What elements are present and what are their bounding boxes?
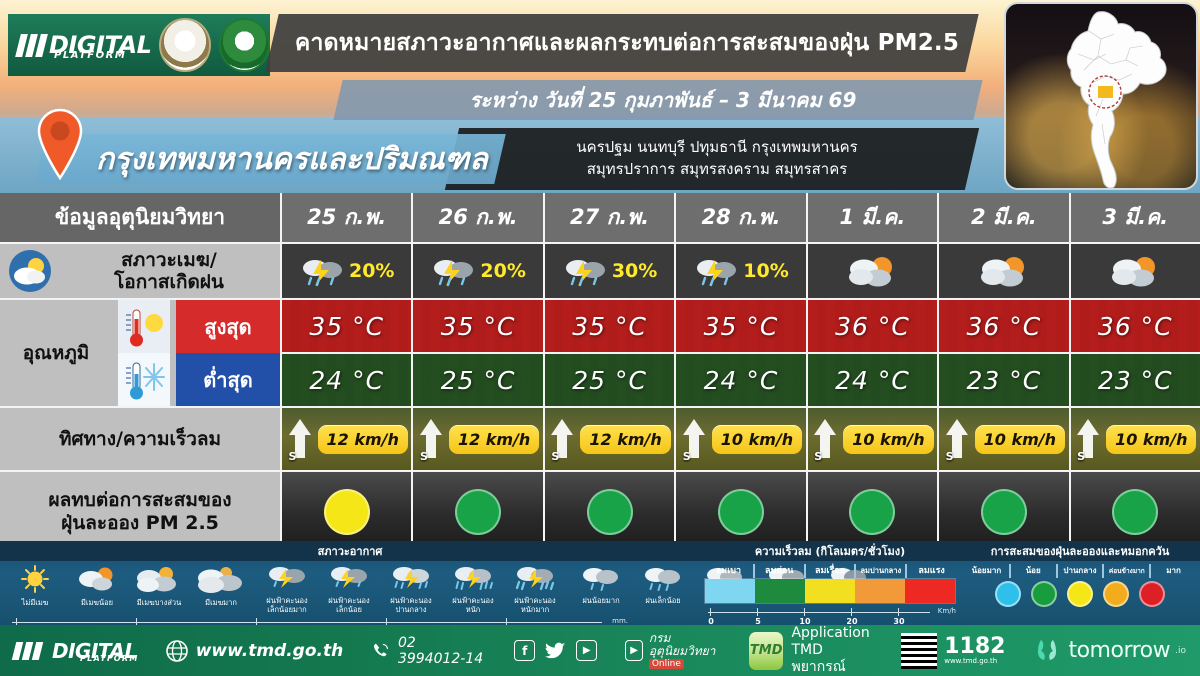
- wind-cat-1: ลมอ่อน: [755, 564, 806, 578]
- temp-low-cell-4: 24 °C: [808, 354, 937, 406]
- partly-cloudy-icon: [134, 564, 184, 594]
- legend-item-rain-light: ฝนน้อยมาก: [570, 564, 632, 606]
- temp-high-cell-5: 36 °C: [939, 300, 1068, 352]
- legend-rain-group: ฝนฟ้าคะนองเล็กน้อยมาก ฝนฟ้าคะนองเล็กน้อย: [256, 564, 566, 614]
- pm25-cell-3: [676, 472, 805, 551]
- legend-pm25-body: น้อยมาก น้อย ปานกลาง ค่อนข้างมาก มาก: [960, 561, 1200, 607]
- wind-direction-arrow-icon: S: [811, 416, 839, 462]
- legend-weather: สภาวะอากาศ ไม่มีเมฆ: [0, 541, 700, 625]
- row-label-wind-text: ทิศทาง/ความเร็วลม: [0, 428, 280, 450]
- storm-vheavy-icon: [512, 564, 558, 592]
- pm25-cell-5: [939, 472, 1068, 551]
- header: DIGITAL PLATFORM คาดหมายสภาวะอากาศและผลก…: [0, 0, 1200, 193]
- legend-item-storm-vheavy: ฝนฟ้าคะนองหนักมาก: [504, 564, 566, 614]
- pm25-status-dot: [587, 489, 633, 535]
- wind-speed-0: 12 km/h: [318, 425, 408, 454]
- legend-label-storm-heavy: ฝนฟ้าคะนองหนัก: [442, 597, 504, 614]
- footer-bar: DIGITAL PLATFORM www.tmd.go.th 02 399401…: [0, 625, 1200, 676]
- province-line-2: สมุทรปราการ สมุทรสงคราม สมุทรสาคร: [587, 159, 848, 181]
- footer-social[interactable]: f ▶: [500, 625, 611, 676]
- wind-color-bar: [704, 578, 956, 604]
- row-label-temperature-text: อุณหภูมิ: [0, 342, 112, 364]
- cloudy-icon: [195, 564, 247, 594]
- temp-low-cell-3: 24 °C: [676, 354, 805, 406]
- legend-weather-items: ไม่มีเมฆ มีเมฆน้อย: [4, 564, 696, 614]
- footer-app[interactable]: TMD Application TMD พยากรณ์: [735, 625, 887, 676]
- logo-bars-icon: [14, 642, 41, 660]
- wind-cell-5: S 10 km/h: [939, 408, 1068, 470]
- wind-cat-4: ลมแรง: [907, 564, 956, 578]
- globe-icon: [165, 639, 189, 663]
- legend-item-mostly-sunny: มีเมฆน้อย: [66, 564, 128, 608]
- pm25-legend-dot-3: [1103, 581, 1129, 607]
- legend-item-cloudy: มีเมฆมาก: [190, 564, 252, 608]
- storm-some-icon: [326, 564, 372, 592]
- legend-label-storm-vheavy: ฝนฟ้าคะนองหนักมาก: [504, 597, 566, 614]
- row-label-sky: สภาวะเมฆ/ โอกาสเกิดฝน: [0, 244, 280, 298]
- date-header-2: 27 ก.พ.: [545, 193, 674, 242]
- pm25-cat-3: ค่อนข้างมาก: [1104, 564, 1151, 578]
- phone-icon: [371, 639, 391, 663]
- date-header-6: 3 มี.ค.: [1071, 193, 1200, 242]
- legend-wind-title: ความเร็วลม (กิโลเมตร/ชั่วโมง): [700, 541, 960, 561]
- temp-high-cell-6: 36 °C: [1071, 300, 1200, 352]
- row-label-sky-text: สภาวะเมฆ/ โอกาสเกิดฝน: [58, 249, 280, 294]
- partner-name: tomorrow: [1068, 638, 1170, 663]
- sky-cell-0: 20%: [282, 244, 411, 298]
- storm-light-icon: [264, 564, 310, 592]
- legend-rain-icons: ฝนฟ้าคะนองเล็กน้อยมาก ฝนฟ้าคะนองเล็กน้อย: [256, 564, 566, 614]
- temp-low-label: ต่ำสุด: [176, 353, 280, 406]
- date-header-1: 26 ก.พ.: [413, 193, 542, 242]
- pm25-cat-1: น้อย: [1011, 564, 1058, 578]
- sky-cell-4: [808, 244, 937, 298]
- pm25-status-dot: [981, 489, 1027, 535]
- pm25-categories: น้อยมาก น้อย ปานกลาง ค่อนข้างมาก มาก: [964, 564, 1196, 578]
- date-range: ระหว่าง วันที่ 25 กุมภาพันธ์ – 3 มีนาคม …: [348, 80, 978, 120]
- wind-cell-1: S 12 km/h: [413, 408, 542, 470]
- wind-categories: ลมเบา ลมอ่อน ลมเรื่อย ลมปานกลาง ลมแรง: [704, 564, 956, 578]
- temp-high-cell-0: 35 °C: [282, 300, 411, 352]
- wind-cat-2: ลมเรื่อย: [806, 564, 857, 578]
- rain-chance-1: 20%: [480, 260, 525, 282]
- ministry-seal-icon: [219, 18, 270, 72]
- pm25-status-dot: [324, 489, 370, 535]
- location-pin-icon: [34, 108, 86, 180]
- pm25-cat-2: ปานกลาง: [1058, 564, 1105, 578]
- wind-speed-1: 12 km/h: [449, 425, 539, 454]
- legend-wind: ความเร็วลม (กิโลเมตร/ชั่วโมง) ลมเบา ลมอ่…: [700, 541, 960, 625]
- date-header-5: 2 มี.ค.: [939, 193, 1068, 242]
- sky-cell-6: [1071, 244, 1200, 298]
- wind-speed-6: 10 km/h: [1106, 425, 1196, 454]
- sky-cell-5: [939, 244, 1068, 298]
- row-label-temperature: อุณหภูมิ: [0, 300, 280, 406]
- pm25-cell-1: [413, 472, 542, 551]
- pm25-cat-0: น้อยมาก: [964, 564, 1011, 578]
- wind-direction-arrow-icon: S: [680, 416, 708, 462]
- tmd-seal-icon: [159, 18, 210, 72]
- pm25-legend-dot-2: [1067, 581, 1093, 607]
- pm25-legend-dots: [964, 578, 1196, 607]
- sun-cloud-icon: [8, 249, 52, 293]
- wind-cell-4: S 10 km/h: [808, 408, 937, 470]
- footer-logo-sub: PLATFORM: [80, 654, 139, 663]
- rain-chance-3: 10%: [743, 260, 788, 282]
- thunderstorm-icon: [430, 252, 476, 290]
- wind-swatch-1: [755, 579, 805, 603]
- legend-label-storm-mid: ฝนฟ้าคะนองปานกลาง: [380, 597, 442, 614]
- footer-app-line2: TMD พยากรณ์: [791, 642, 873, 676]
- storm-mid-icon: [388, 564, 434, 592]
- pm25-status-dot: [849, 489, 895, 535]
- hotline-url: www.tmd.go.th: [944, 658, 1005, 665]
- temp-low-cell-2: 25 °C: [545, 354, 674, 406]
- thermometer-icons: [118, 300, 170, 406]
- facebook-icon[interactable]: f: [514, 640, 535, 661]
- province-list: นครปฐม นนทบุรี ปทุมธานี กรุงเทพมหานคร สม…: [462, 128, 972, 190]
- digital-platform-logo: DIGITAL PLATFORM: [8, 14, 270, 76]
- footer-logo: DIGITAL PLATFORM: [0, 625, 151, 676]
- wind-speed-2: 12 km/h: [580, 425, 670, 454]
- wind-swatch-3: [855, 579, 905, 603]
- twitter-icon[interactable]: [544, 639, 567, 662]
- mostly-sunny-icon: [74, 564, 120, 594]
- wind-direction-arrow-icon: S: [417, 416, 445, 462]
- sunny-icon: [14, 564, 56, 594]
- wind-scale-axis: [708, 612, 930, 613]
- forecast-table: ข้อมูลอุตุนิยมวิทยา 25 ก.พ. 26 ก.พ. 27 ก…: [0, 193, 1200, 541]
- partner-suffix: .io: [1175, 646, 1186, 656]
- wind-tick-4: 30: [898, 608, 899, 616]
- wind-tick-1: 5: [757, 608, 758, 616]
- pm25-legend-dot-4: [1139, 581, 1165, 607]
- wind-swatch-2: [805, 579, 855, 603]
- youtube-play-icon[interactable]: ▶: [576, 640, 597, 661]
- thailand-map-icon: [1006, 4, 1198, 190]
- thunderstorm-icon: [562, 252, 608, 290]
- thunderstorm-icon: [693, 252, 739, 290]
- region-name: กรุงเทพมหานครและปริมณฑล: [96, 134, 516, 184]
- rain-chance-0: 20%: [349, 260, 394, 282]
- legend-bar: สภาวะอากาศ ไม่มีเมฆ: [0, 541, 1200, 625]
- legend-label-storm-light: ฝนฟ้าคะนองเล็กน้อยมาก: [256, 597, 318, 614]
- date-header-3: 28 ก.พ.: [676, 193, 805, 242]
- legend-item-storm-heavy: ฝนฟ้าคะนองหนัก: [442, 564, 504, 614]
- table-corner-label: ข้อมูลอุตุนิยมวิทยา: [0, 193, 280, 242]
- wind-tick-3: 20: [851, 608, 852, 616]
- wind-scale-unit: Km/h: [938, 607, 956, 615]
- youtube-icon[interactable]: ▶: [625, 640, 643, 661]
- thunderstorm-icon: [299, 252, 345, 290]
- tmd-app-badge-text: TMD: [750, 643, 783, 658]
- temperature-minmax-labels: สูงสุด ต่ำสุด: [176, 300, 280, 406]
- logo-sub-text: PLATFORM: [54, 50, 126, 61]
- date-header-0: 25 ก.พ.: [282, 193, 411, 242]
- pm25-cell-0: [282, 472, 411, 551]
- pm25-status-dot: [718, 489, 764, 535]
- legend-pm25-title: การสะสมของฝุ่นละอองและหมอกควัน: [960, 541, 1200, 561]
- wind-direction-arrow-icon: S: [943, 416, 971, 462]
- partly-cloudy-icon: [1107, 252, 1163, 290]
- pm25-cell-2: [545, 472, 674, 551]
- pm25-status-dot: [455, 489, 501, 535]
- footer-phone-text: 02 3994012-14: [398, 635, 486, 667]
- row-label-pm25-text: ผลทบต่อการสะสมของ ฝุ่นละออง PM 2.5: [0, 489, 280, 534]
- wind-cat-0: ลมเบา: [704, 564, 755, 578]
- footer-website-text: www.tmd.go.th: [196, 641, 344, 661]
- wind-swatch-0: [705, 579, 755, 603]
- legend-item-storm-mid: ฝนฟ้าคะนองปานกลาง: [380, 564, 442, 614]
- legend-item-partly-cloudy: มีเมฆบางส่วน: [128, 564, 190, 608]
- pm25-legend-dot-1: [1031, 581, 1057, 607]
- pm25-cat-4: มาก: [1151, 564, 1196, 578]
- wind-speed-3: 10 km/h: [712, 425, 802, 454]
- wind-cell-3: S 10 km/h: [676, 408, 805, 470]
- pm25-cell-6: [1071, 472, 1200, 551]
- partly-cloudy-icon: [976, 252, 1032, 290]
- legend-item-rain-some: ฝนเล็กน้อย: [632, 564, 694, 606]
- legend-pm25: การสะสมของฝุ่นละอองและหมอกควัน น้อยมาก น…: [960, 541, 1200, 625]
- pm25-status-dot: [1112, 489, 1158, 535]
- partly-cloudy-icon: [844, 252, 900, 290]
- footer-partner: tomorrow .io: [1019, 625, 1200, 676]
- wind-speed-4: 10 km/h: [843, 425, 933, 454]
- wind-direction-arrow-icon: S: [1074, 416, 1102, 462]
- wind-cell-0: S 12 km/h: [282, 408, 411, 470]
- wind-tick-0: 0: [710, 608, 711, 616]
- row-label-pm25: ผลทบต่อการสะสมของ ฝุ่นละออง PM 2.5: [0, 472, 280, 551]
- rain-chance-2: 30%: [612, 260, 657, 282]
- legend-item-storm-light: ฝนฟ้าคะนองเล็กน้อยมาก: [256, 564, 318, 614]
- footer-hotline: 1182 www.tmd.go.th: [887, 625, 1019, 676]
- temp-high-cell-4: 36 °C: [808, 300, 937, 352]
- temp-high-cell-1: 35 °C: [413, 300, 542, 352]
- rain-scale-axis: [12, 622, 602, 623]
- rain-light-icon: [578, 564, 624, 592]
- temp-low-cell-5: 23 °C: [939, 354, 1068, 406]
- thermometer-cold-icon: [118, 353, 170, 406]
- tomorrow-logo-icon: [1033, 636, 1063, 666]
- tmd-app-icon: TMD: [749, 632, 783, 670]
- legend-item-storm-some: ฝนฟ้าคะนองเล็กน้อย: [318, 564, 380, 614]
- legend-item-sunny: ไม่มีเมฆ: [4, 564, 66, 608]
- footer-channel-name: กรมอุตุนิยมวิทยา: [649, 632, 721, 660]
- thermometer-hot-icon: [118, 300, 170, 353]
- sky-cell-1: 20%: [413, 244, 542, 298]
- wind-swatch-4: [905, 579, 955, 603]
- poster-title: คาดหมายสภาวะอากาศและผลกระทบต่อการสะสมของ…: [282, 14, 972, 72]
- wind-speed-5: 10 km/h: [975, 425, 1065, 454]
- legend-cloud-group: ไม่มีเมฆ มีเมฆน้อย: [4, 564, 252, 608]
- pm25-cell-4: [808, 472, 937, 551]
- temp-low-cell-6: 23 °C: [1071, 354, 1200, 406]
- temp-high-cell-2: 35 °C: [545, 300, 674, 352]
- temp-low-cell-0: 24 °C: [282, 354, 411, 406]
- sky-cell-3: 10%: [676, 244, 805, 298]
- wind-direction-arrow-icon: S: [286, 416, 314, 462]
- date-header-4: 1 มี.ค.: [808, 193, 937, 242]
- footer-youtube-channel[interactable]: ▶ กรมอุตุนิยมวิทยา Online: [611, 625, 735, 676]
- province-line-1: นครปฐม นนทบุรี ปทุมธานี กรุงเทพมหานคร: [576, 137, 857, 159]
- legend-wind-body: ลมเบา ลมอ่อน ลมเรื่อย ลมปานกลาง ลมแรง 0 …: [700, 561, 960, 627]
- legend-weather-title: สภาวะอากาศ: [0, 541, 700, 561]
- pm25-legend-dot-0: [995, 581, 1021, 607]
- logo-bars-icon: [18, 34, 45, 57]
- wind-cell-2: S 12 km/h: [545, 408, 674, 470]
- hotline-number: 1182: [944, 635, 1005, 658]
- forecast-poster: DIGITAL PLATFORM คาดหมายสภาวะอากาศและผลก…: [0, 0, 1200, 676]
- footer-app-line1: Application: [791, 625, 873, 642]
- wind-scale: 0 5 10 20 30 Km/h: [704, 605, 956, 627]
- footer-phone[interactable]: 02 3994012-14: [357, 625, 500, 676]
- temp-high-cell-3: 35 °C: [676, 300, 805, 352]
- row-label-wind: ทิศทาง/ความเร็วลม: [0, 408, 280, 470]
- legend-label-storm-some: ฝนฟ้าคะนองเล็กน้อย: [318, 597, 380, 614]
- wind-direction-arrow-icon: S: [548, 416, 576, 462]
- footer-channel-badge: Online: [649, 659, 684, 669]
- thailand-map-card: [1004, 2, 1198, 190]
- storm-heavy-icon: [450, 564, 496, 592]
- temp-high-label: สูงสุด: [176, 300, 280, 353]
- footer-website[interactable]: www.tmd.go.th: [151, 625, 358, 676]
- sky-cell-2: 30%: [545, 244, 674, 298]
- qr-code-icon: [901, 633, 937, 669]
- temp-low-cell-1: 25 °C: [413, 354, 542, 406]
- rain-some-icon: [640, 564, 686, 592]
- wind-tick-2: 10: [804, 608, 805, 616]
- wind-cat-3: ลมปานกลาง: [856, 564, 907, 578]
- wind-cell-6: S 10 km/h: [1071, 408, 1200, 470]
